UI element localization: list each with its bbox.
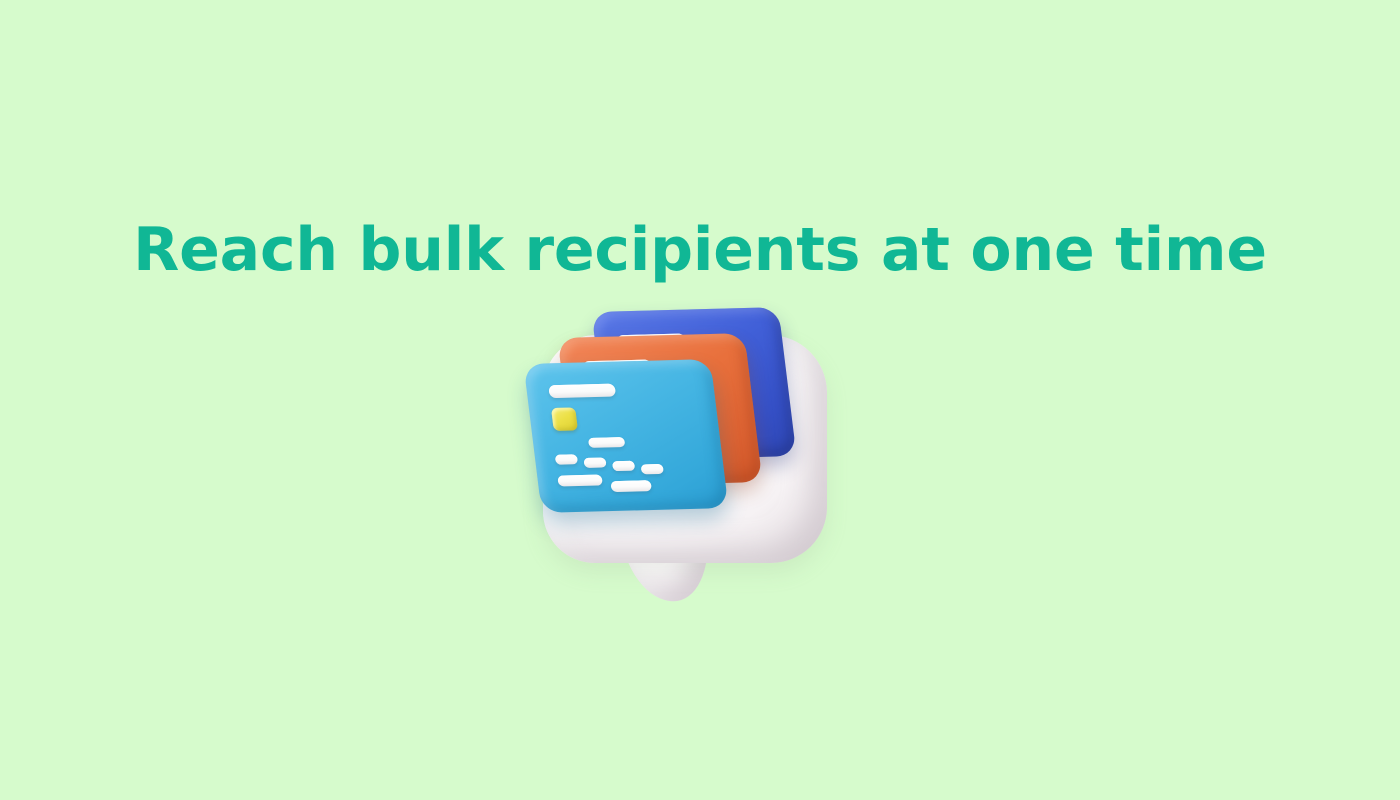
card-text-bar [610, 480, 652, 492]
card-text-bar [555, 454, 578, 465]
card-chip-icon [551, 407, 578, 430]
card-text-bar [612, 461, 635, 472]
bulk-messages-3d-illustration [525, 295, 845, 610]
message-card-front [523, 359, 728, 513]
card-text-bar [583, 457, 606, 468]
page-title: Reach bulk recipients at one time [0, 212, 1400, 288]
hero-banner: Reach bulk recipients at one time [0, 0, 1400, 800]
card-text-bar [557, 474, 603, 486]
card-title-bar [548, 384, 616, 399]
card-text-bar [588, 437, 625, 448]
card-text-bar [641, 464, 664, 475]
